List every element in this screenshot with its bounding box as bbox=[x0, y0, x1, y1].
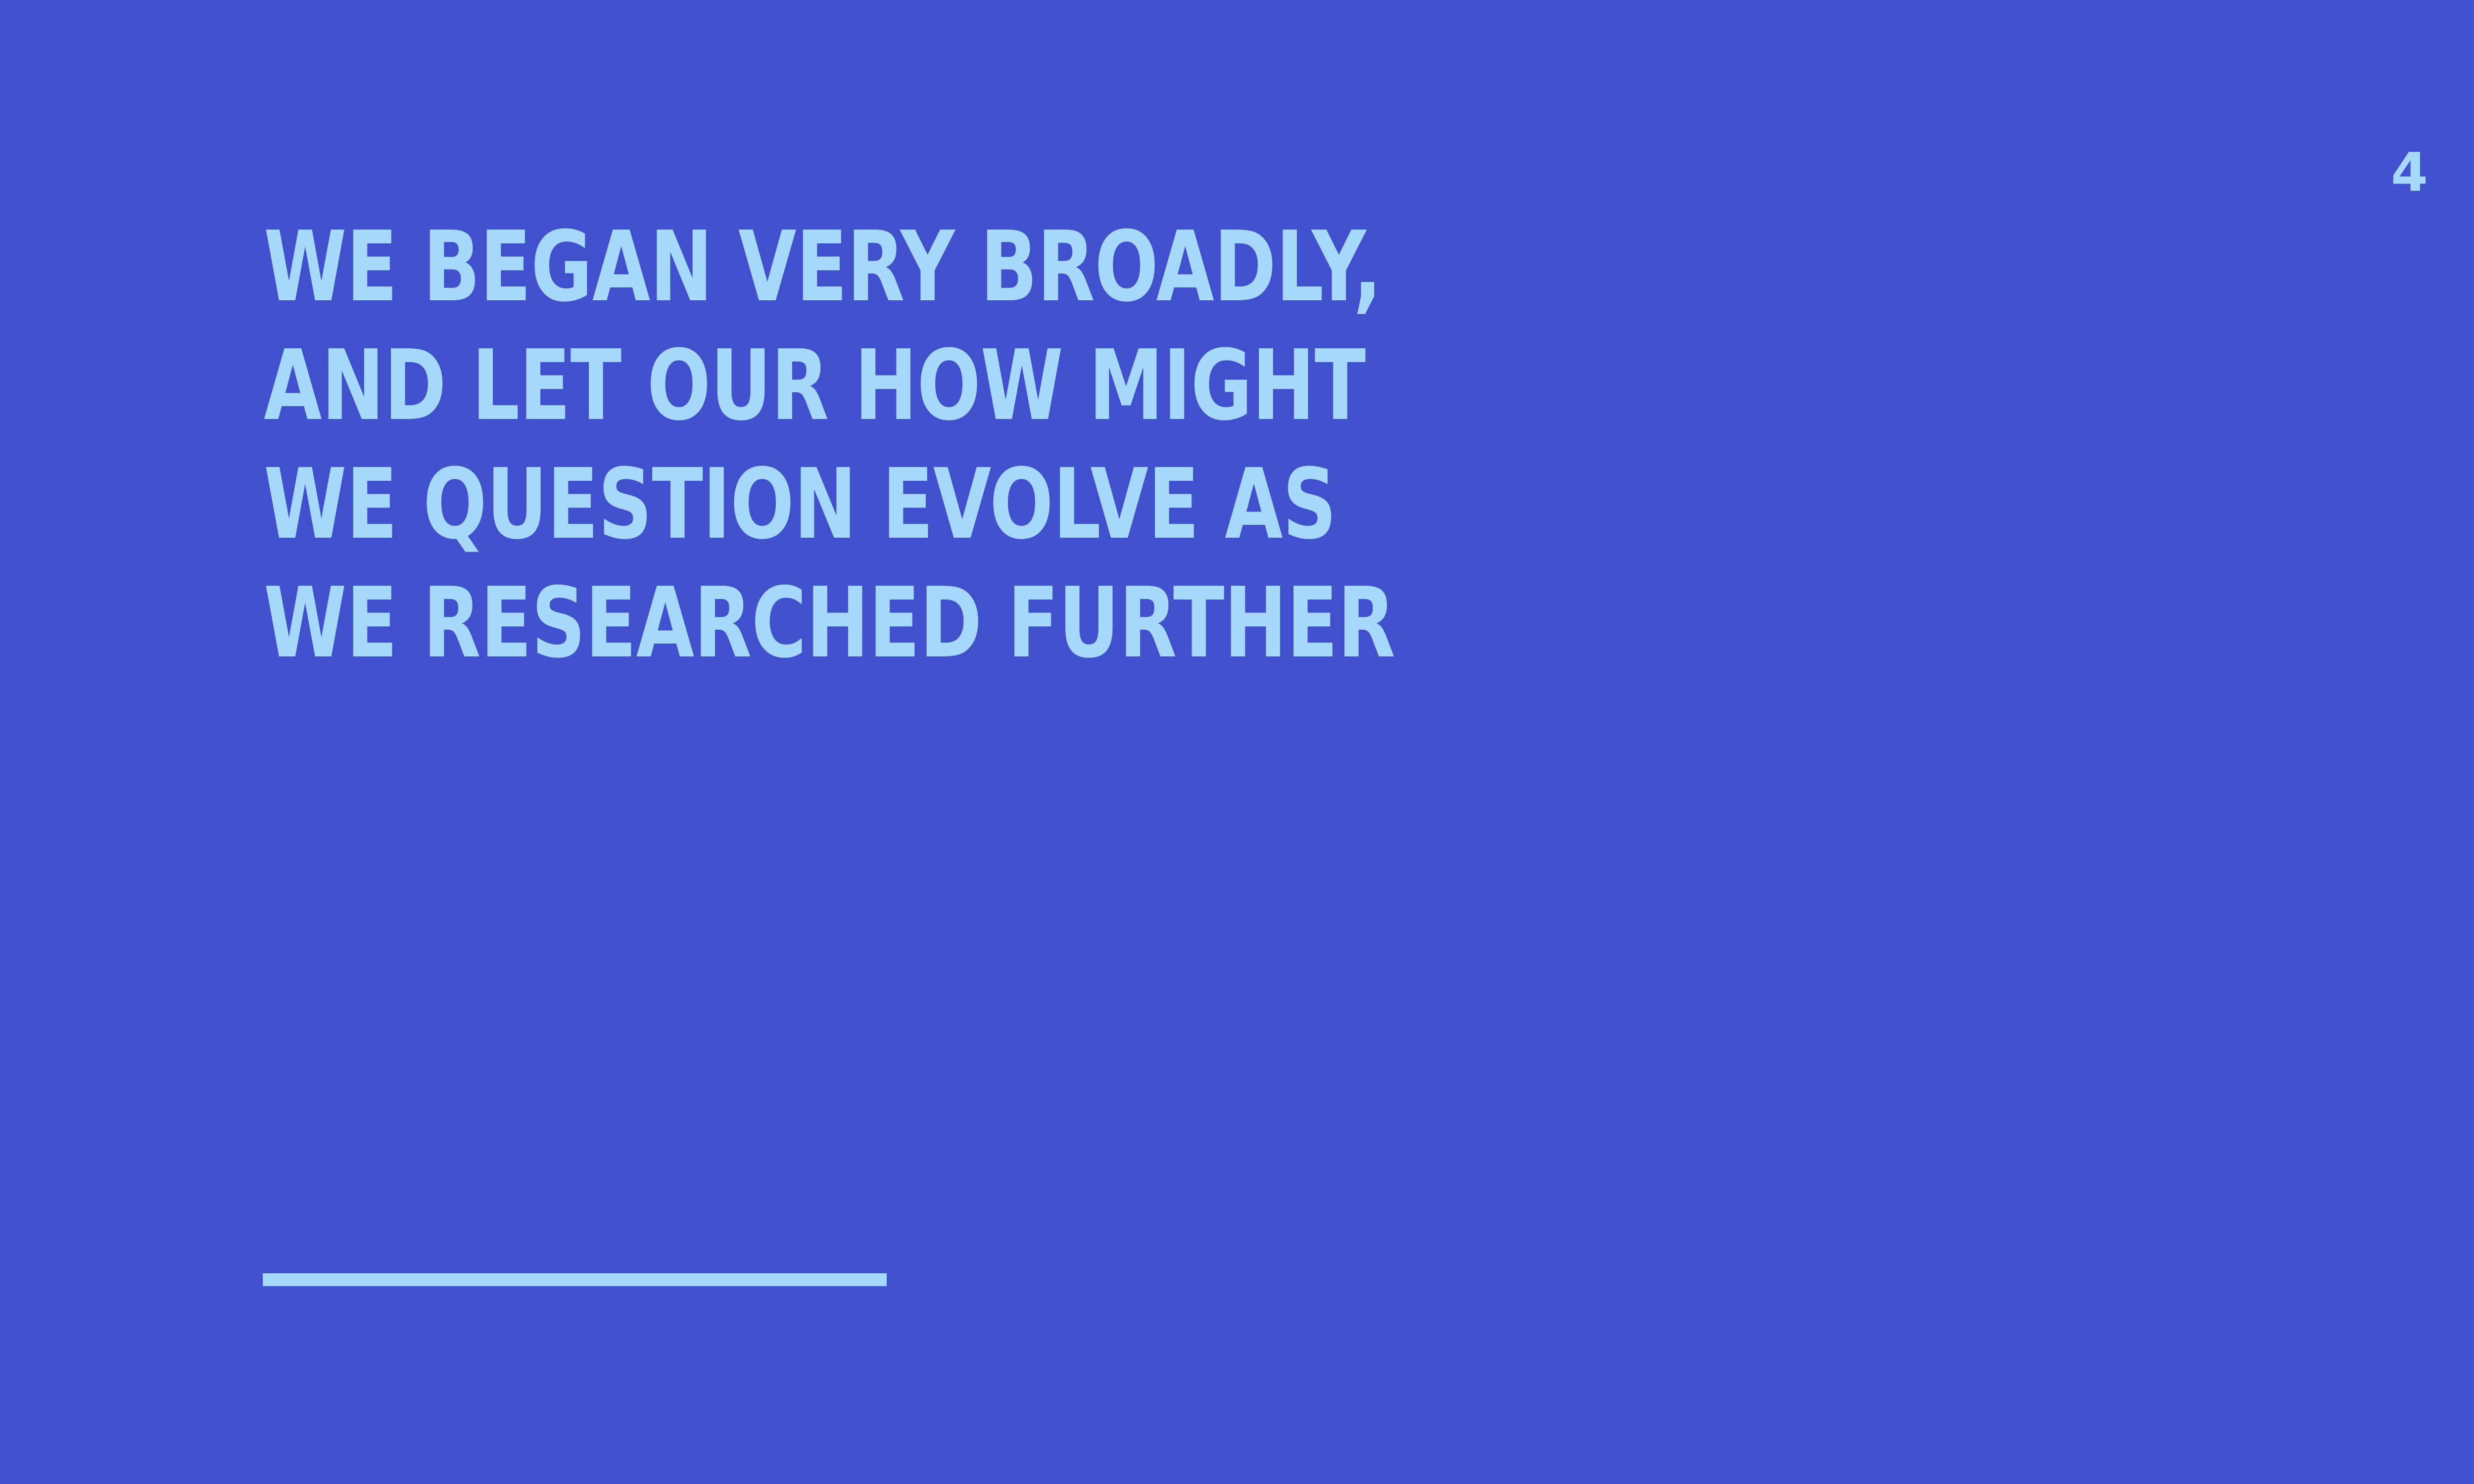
presentation-slide: 4 WE BEGAN VERY BROADLY, AND LET OUR HOW… bbox=[0, 0, 2474, 1484]
accent-rule bbox=[263, 1273, 887, 1286]
page-number: 4 bbox=[2391, 146, 2427, 200]
headline-line-2: AND LET OUR HOW MIGHT bbox=[264, 326, 1568, 445]
slide-headline: WE BEGAN VERY BROADLY, AND LET OUR HOW M… bbox=[264, 208, 1946, 683]
headline-line-3: WE QUESTION EVOLVE AS bbox=[264, 445, 1568, 564]
headline-line-1: WE BEGAN VERY BROADLY, bbox=[264, 208, 1568, 326]
headline-line-4: WE RESEARCHED FURTHER bbox=[264, 564, 1568, 683]
